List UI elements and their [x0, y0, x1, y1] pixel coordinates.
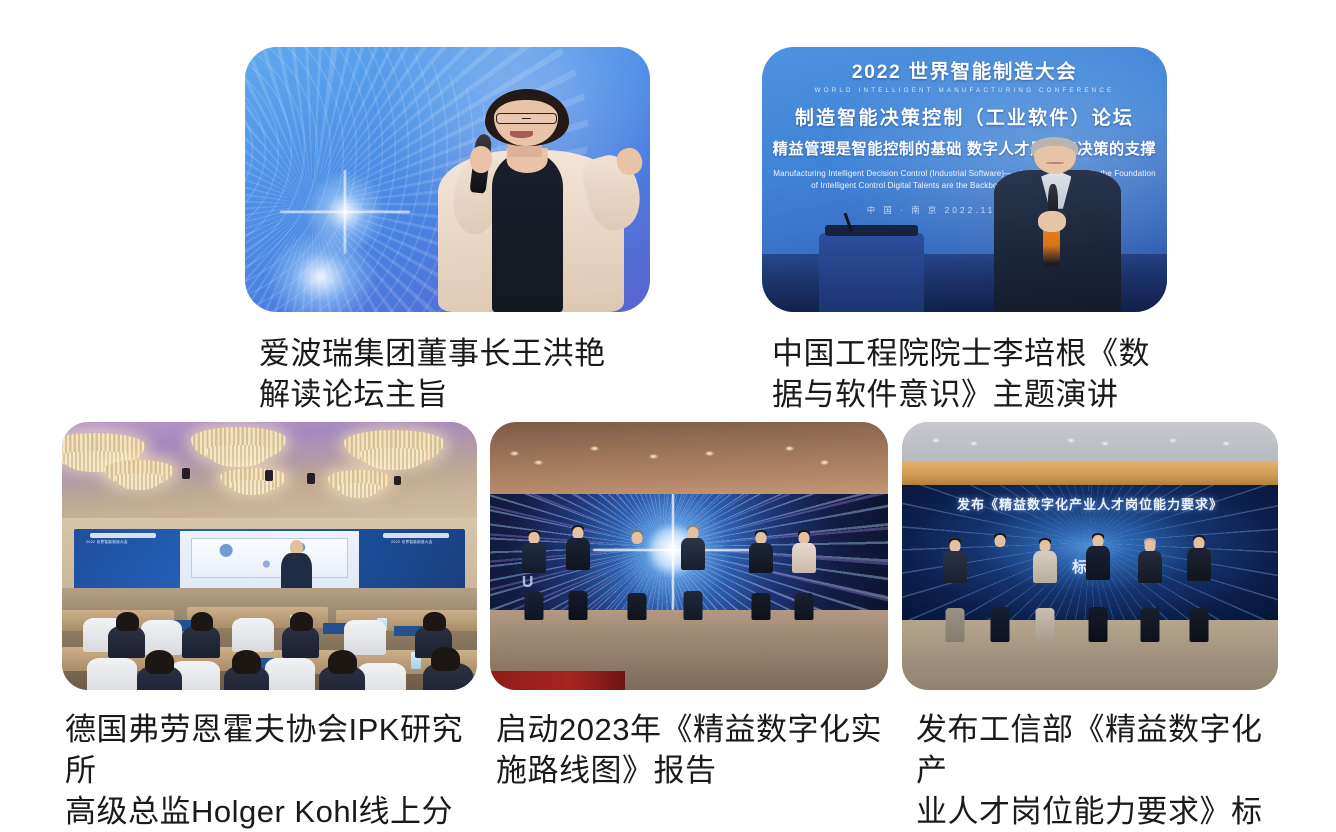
photo4-person-5-torso	[749, 543, 773, 573]
photo4-person-5-legs	[751, 593, 770, 620]
photo3-attendee-head-1	[116, 612, 139, 631]
caption-3: 德国弗劳恩霍夫协会IPK研究所 高级总监Holger Kohl线上分享	[62, 710, 477, 832]
photo5-ceiling-light-2	[970, 441, 978, 446]
photo5-person-3-legs	[1035, 608, 1054, 642]
photo3-attendee-head-4	[423, 612, 446, 631]
photo5-wood-beam	[902, 462, 1278, 486]
photo5-person-1-torso	[943, 551, 967, 583]
photo3-screen-center-slide	[180, 531, 359, 596]
photo5-person-4-legs	[1088, 607, 1107, 642]
chandelier-5	[344, 430, 444, 465]
photo1-light-flare-lower	[265, 227, 377, 312]
chandelier-4	[220, 468, 286, 492]
photo5-person-6-legs	[1190, 608, 1209, 642]
photo4-red-carpet-strip	[490, 671, 625, 690]
spotlight-4	[394, 476, 401, 485]
photo2-speaker-figure	[989, 137, 1127, 312]
gallery-item-1[interactable]: 爱波瑞集团董事长王洪艳 解读论坛主旨	[245, 47, 650, 416]
photo5-person-1-legs	[945, 608, 964, 642]
spotlight-2	[265, 470, 273, 481]
photo-stage-launch[interactable]: U	[490, 422, 888, 690]
photo4-person-2-torso	[566, 538, 590, 570]
gallery-item-4[interactable]: U	[490, 422, 888, 792]
photo3-screen-logo-right	[383, 533, 449, 539]
photo-keynote-speaker-li[interactable]: 2022 世界智能制造大会 WORLD INTELLIGENT MANUFACT…	[762, 47, 1167, 312]
photo4-person-2-legs	[568, 591, 587, 620]
photo4-ceiling	[490, 422, 888, 494]
photo4-person-1-torso	[522, 543, 546, 573]
photo5-ceiling-light-6	[1222, 441, 1230, 446]
photo-conference-hall[interactable]: 2022 世界智能制造大会 2022 世界智能制造大会 智能控制是设备以人为本，…	[62, 422, 477, 690]
gallery-item-2[interactable]: 2022 世界智能制造大会 WORLD INTELLIGENT MANUFACT…	[762, 47, 1167, 416]
caption-2: 中国工程院院士李培根《数 据与软件意识》主题演讲	[762, 334, 1167, 416]
photo3-attendee-head-6	[232, 650, 261, 674]
photo1-hand-left	[470, 146, 493, 173]
photo5-person-3-torso	[1033, 551, 1057, 583]
photo-standard-release[interactable]: 发布《精益数字化产业人才岗位能力要求》 标准	[902, 422, 1278, 690]
photo3-seat-5	[87, 658, 137, 690]
photo5-person-5-torso	[1138, 551, 1162, 583]
gallery-item-3[interactable]: 2022 世界智能制造大会 2022 世界智能制造大会 智能控制是设备以人为本，…	[62, 422, 477, 832]
photo3-seat-7	[265, 658, 315, 690]
photo4-person-4-torso	[681, 538, 705, 570]
photo3-attendee-head-8	[431, 647, 460, 671]
photo2-hands	[1038, 211, 1066, 232]
photo3-attendee-head-3	[290, 612, 313, 631]
caption-4: 启动2023年《精益数字化实 施路线图》报告	[490, 710, 888, 792]
photo4-person-3-legs	[628, 593, 647, 620]
photo4-ceiling-light-6	[785, 446, 794, 451]
photo4-person-1-legs	[524, 592, 543, 620]
photo3-attendee-head-2	[191, 612, 214, 631]
photo4-ceiling-light-7	[820, 460, 829, 465]
caption-5: 发布工信部《精益数字化产 业人才岗位能力要求》标准	[902, 710, 1278, 832]
photo5-person-5-legs	[1141, 608, 1160, 642]
photo-gallery: 爱波瑞集团董事长王洪艳 解读论坛主旨 2022 世界智能制造大会 WORLD I…	[0, 0, 1336, 832]
photo4-person-6-torso	[792, 543, 816, 573]
photo3-attendee-head-7	[328, 650, 357, 674]
photo4-ceiling-light-2	[534, 460, 543, 465]
photo3-attendee-head-5	[145, 650, 174, 674]
photo2-banner-title-en: WORLD INTELLIGENT MANUFACTURING CONFEREN…	[770, 87, 1159, 94]
photo-keynote-speaker-wang[interactable]	[245, 47, 650, 312]
photo4-person-6-legs	[795, 593, 814, 620]
photo2-banner-title: 2022 世界智能制造大会	[770, 55, 1159, 84]
gallery-item-5[interactable]: 发布《精益数字化产业人才岗位能力要求》 标准	[902, 422, 1278, 832]
caption-1: 爱波瑞集团董事长王洪艳 解读论坛主旨	[245, 334, 650, 416]
photo5-person-6-torso	[1187, 548, 1211, 581]
photo3-screen-text-right: 2022 世界智能制造大会	[371, 539, 453, 547]
photo2-banner-subtitle: 制造智能决策控制（工业软件）论坛	[770, 103, 1159, 130]
photo3-seat-3	[232, 618, 274, 653]
photo5-person-2-legs	[990, 607, 1009, 642]
photo3-screen-text-left: 2022 世界智能制造大会	[86, 539, 168, 547]
photo5-person-2-torso	[988, 546, 1012, 580]
photo5-led-headline: 发布《精益数字化产业人才岗位能力要求》	[917, 494, 1263, 513]
photo1-speaker-figure	[415, 84, 642, 312]
photo4-person-4-legs	[683, 591, 702, 620]
photo3-seat-4	[344, 620, 386, 655]
photo2-podium	[819, 233, 924, 313]
spotlight-3	[307, 473, 315, 484]
spotlight-1	[182, 468, 190, 479]
photo1-glasses-icon	[496, 113, 557, 124]
photo3-screen-logo-left	[90, 533, 156, 539]
photo5-person-4-torso	[1086, 546, 1110, 580]
photo5-ceiling-light-4	[1101, 441, 1109, 446]
photo1-dress	[492, 152, 562, 312]
photo4-ceiling-light-3	[590, 446, 599, 451]
photo4-person-3-torso	[625, 543, 649, 573]
photo3-slide-diagram	[191, 538, 349, 579]
photo4-led-glyph-u: U	[522, 574, 534, 592]
